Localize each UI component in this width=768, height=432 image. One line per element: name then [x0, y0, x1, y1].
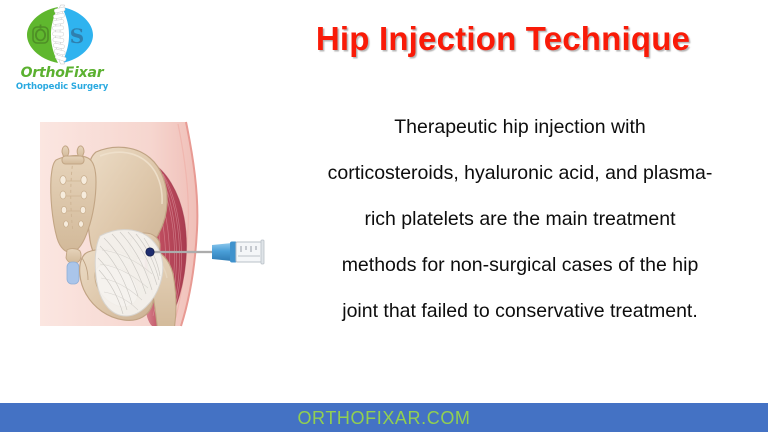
paragraph-line: Therapeutic hip injection with [280, 104, 760, 150]
coccyx [66, 249, 81, 284]
hip-injection-illustration [0, 100, 290, 350]
paragraph-line: corticosteroids, hyaluronic acid, and pl… [280, 150, 760, 196]
body-paragraph: Therapeutic hip injection with corticost… [280, 104, 760, 334]
page-title: Hip Injection Technique [268, 20, 738, 58]
footer-bar: ORTHOFIXAR.COM [0, 403, 768, 432]
orthofixar-emblem-icon: S [18, 4, 100, 66]
paragraph-line: rich platelets are the main treatment [280, 196, 760, 242]
emblem-letter-s: S [70, 24, 84, 48]
svg-text:S: S [70, 24, 84, 48]
syringe [212, 240, 264, 264]
footer-website-label[interactable]: ORTHOFIXAR.COM [297, 409, 470, 427]
paragraph-line: methods for non-surgical cases of the hi… [280, 242, 760, 288]
paragraph-line: joint that failed to conservative treatm… [280, 288, 760, 334]
slide-canvas: S OrthoFixar Orthopedic Surgery Hip Inje… [0, 0, 768, 432]
brand-logo[interactable]: S OrthoFixar Orthopedic Surgery [8, 2, 116, 102]
brand-name: OrthoFixar [8, 66, 116, 81]
brand-tagline: Orthopedic Surgery [8, 82, 116, 92]
injection-point-marker [146, 248, 154, 256]
sacrococcygeal-disc [67, 262, 79, 284]
